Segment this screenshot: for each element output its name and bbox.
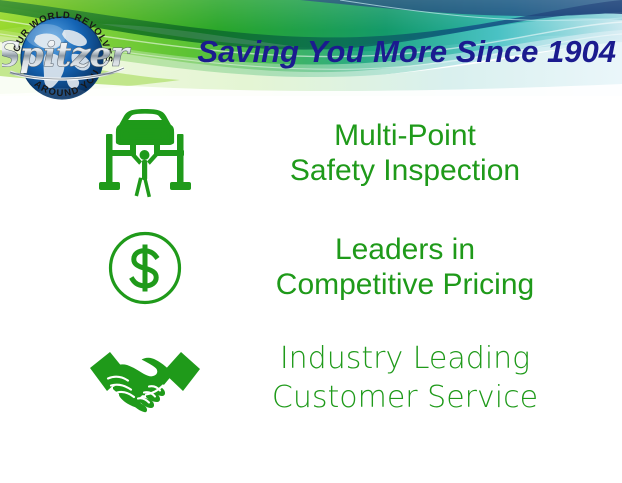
feature-line-1: Industry Leading: [205, 339, 605, 378]
feature-text-competitive-pricing: Leaders in Competitive Pricing: [205, 233, 605, 303]
svg-text:Spitzer: Spitzer: [2, 35, 131, 75]
promo-slide: OUR WORLD REVOLVES AROUND YOU Spitzer Sa…: [0, 0, 622, 483]
feature-row-competitive-pricing: Leaders in Competitive Pricing: [85, 222, 622, 314]
feature-line-2: Customer Service: [205, 378, 605, 417]
feature-text-customer-service: Industry Leading Customer Service: [205, 339, 605, 417]
car-lift-icon: [85, 108, 205, 200]
handshake-icon: [85, 342, 205, 414]
page-title: Saving You More Since 1904: [150, 36, 616, 69]
spitzer-logo: OUR WORLD REVOLVES AROUND YOU Spitzer: [2, 2, 142, 114]
feature-line-2: Safety Inspection: [205, 154, 605, 189]
feature-row-safety-inspection: Multi-Point Safety Inspection: [85, 104, 622, 204]
feature-row-customer-service: Industry Leading Customer Service: [85, 330, 622, 426]
feature-line-1: Multi-Point: [205, 119, 605, 154]
feature-text-safety-inspection: Multi-Point Safety Inspection: [205, 119, 605, 189]
dollar-circle-icon: [85, 228, 205, 308]
feature-line-2: Competitive Pricing: [205, 268, 605, 303]
feature-line-1: Leaders in: [205, 233, 605, 268]
